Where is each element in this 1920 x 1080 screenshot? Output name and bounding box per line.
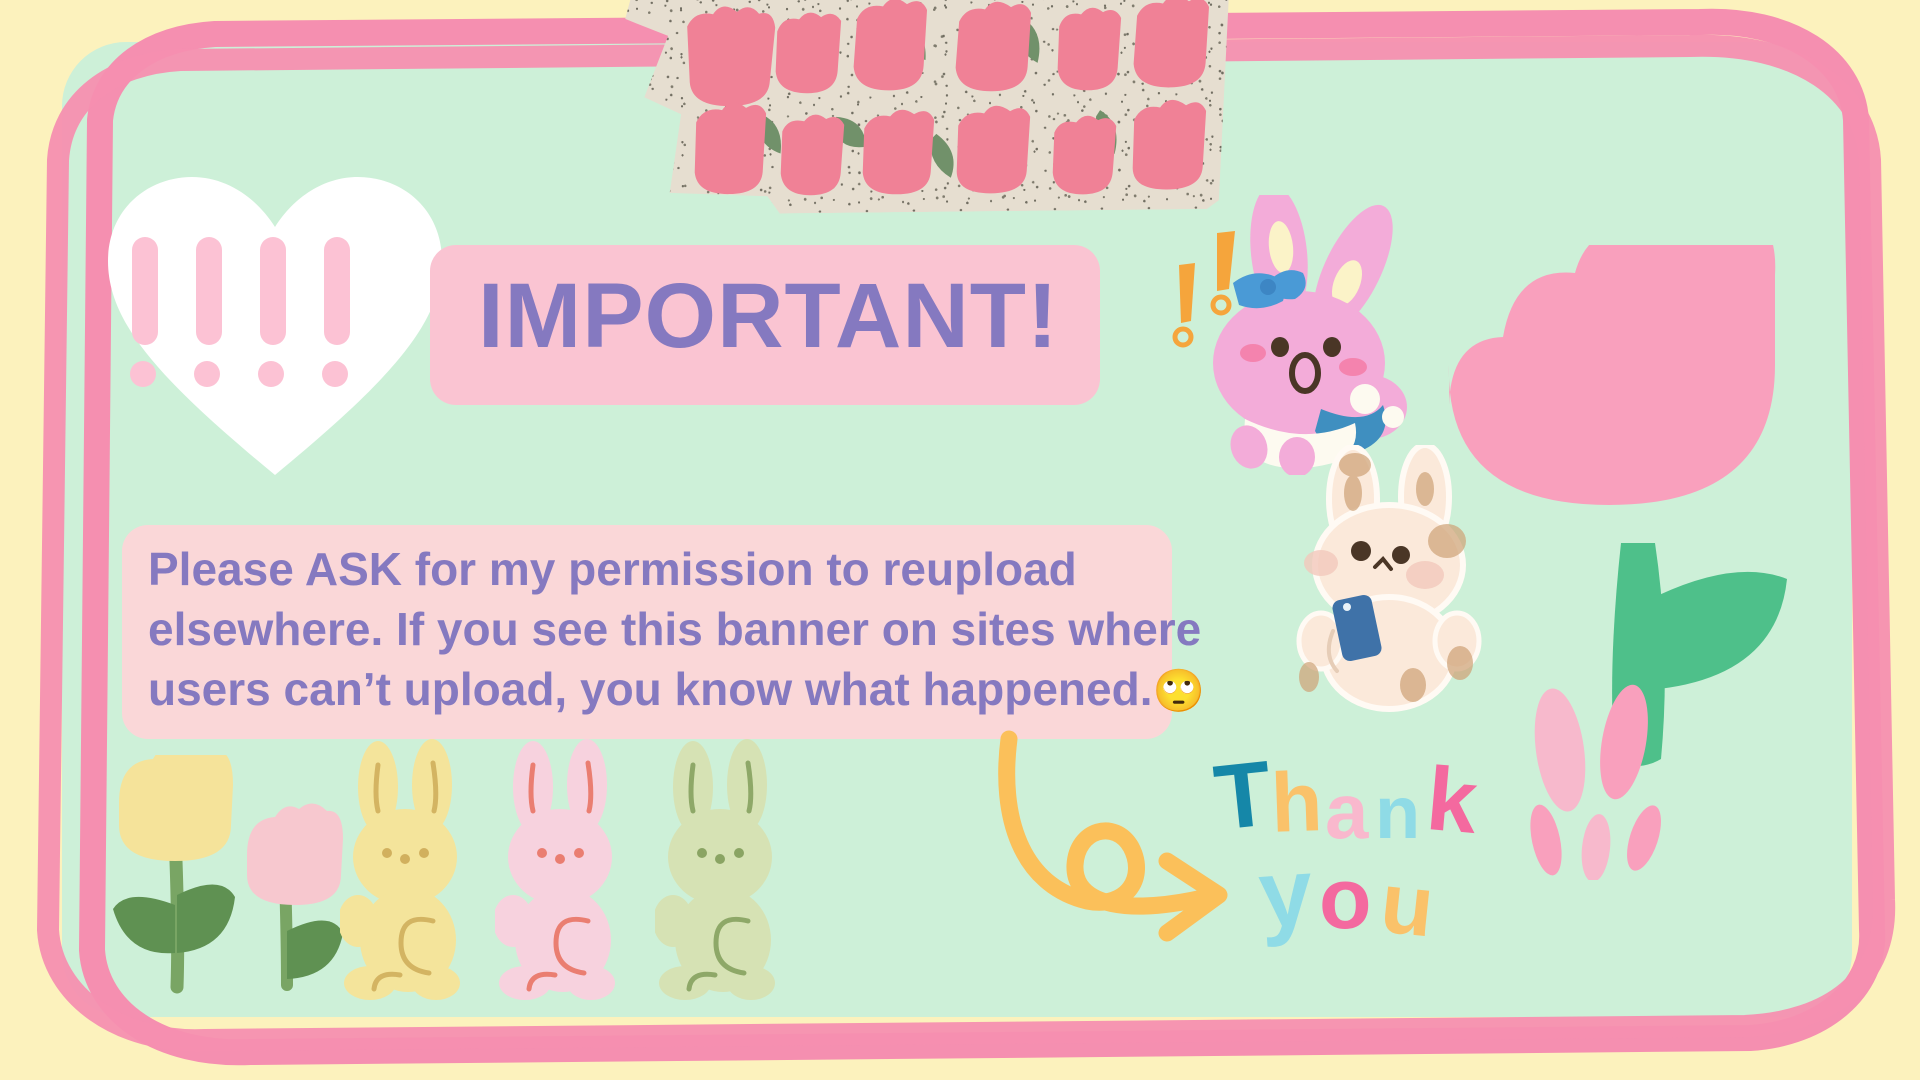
thankyou-letter-a: a [1325, 772, 1368, 850]
message-line-1: Please ASK for my permission to reupload [148, 539, 1152, 599]
thankyou-letter-o: o [1319, 856, 1372, 942]
message-line-3: users can’t upload, you know what happen… [148, 659, 1152, 721]
washi-tape-tulips [619, 0, 1231, 215]
bunny-sticker-green [655, 735, 785, 1000]
message-line-3-text: users can’t upload, you know what happen… [148, 663, 1152, 715]
eye-roll-emoji: 🙄 [1152, 667, 1204, 714]
small-tulips-decoration [95, 755, 365, 1005]
thankyou-letter-u: u [1377, 859, 1438, 950]
thankyou-letter-n: n [1375, 776, 1420, 850]
thankyou-letter-k: k [1423, 754, 1481, 848]
bunny-sticker-yellow [340, 735, 470, 1000]
thankyou-letter-T: T [1210, 747, 1276, 844]
page-title: IMPORTANT! [478, 264, 1059, 369]
thankyou-letter-h: h [1270, 759, 1324, 845]
banner-canvas: IMPORTANT! [0, 0, 1920, 1080]
message-line-2: elsewhere. If you see this banner on sit… [148, 599, 1152, 659]
falling-petals-decoration [1520, 680, 1700, 880]
thankyou-letter-y: y [1256, 844, 1316, 943]
thank-you-lettering: T h a n k y o u [1215, 750, 1515, 950]
message-box: Please ASK for my permission to reupload… [122, 525, 1172, 739]
bunny-sticker-pink [495, 735, 625, 1000]
heart-exclamation-sticker [100, 165, 450, 485]
washi-tulip-pattern [619, 0, 1231, 215]
flying-bunny-sticker [1125, 195, 1455, 475]
